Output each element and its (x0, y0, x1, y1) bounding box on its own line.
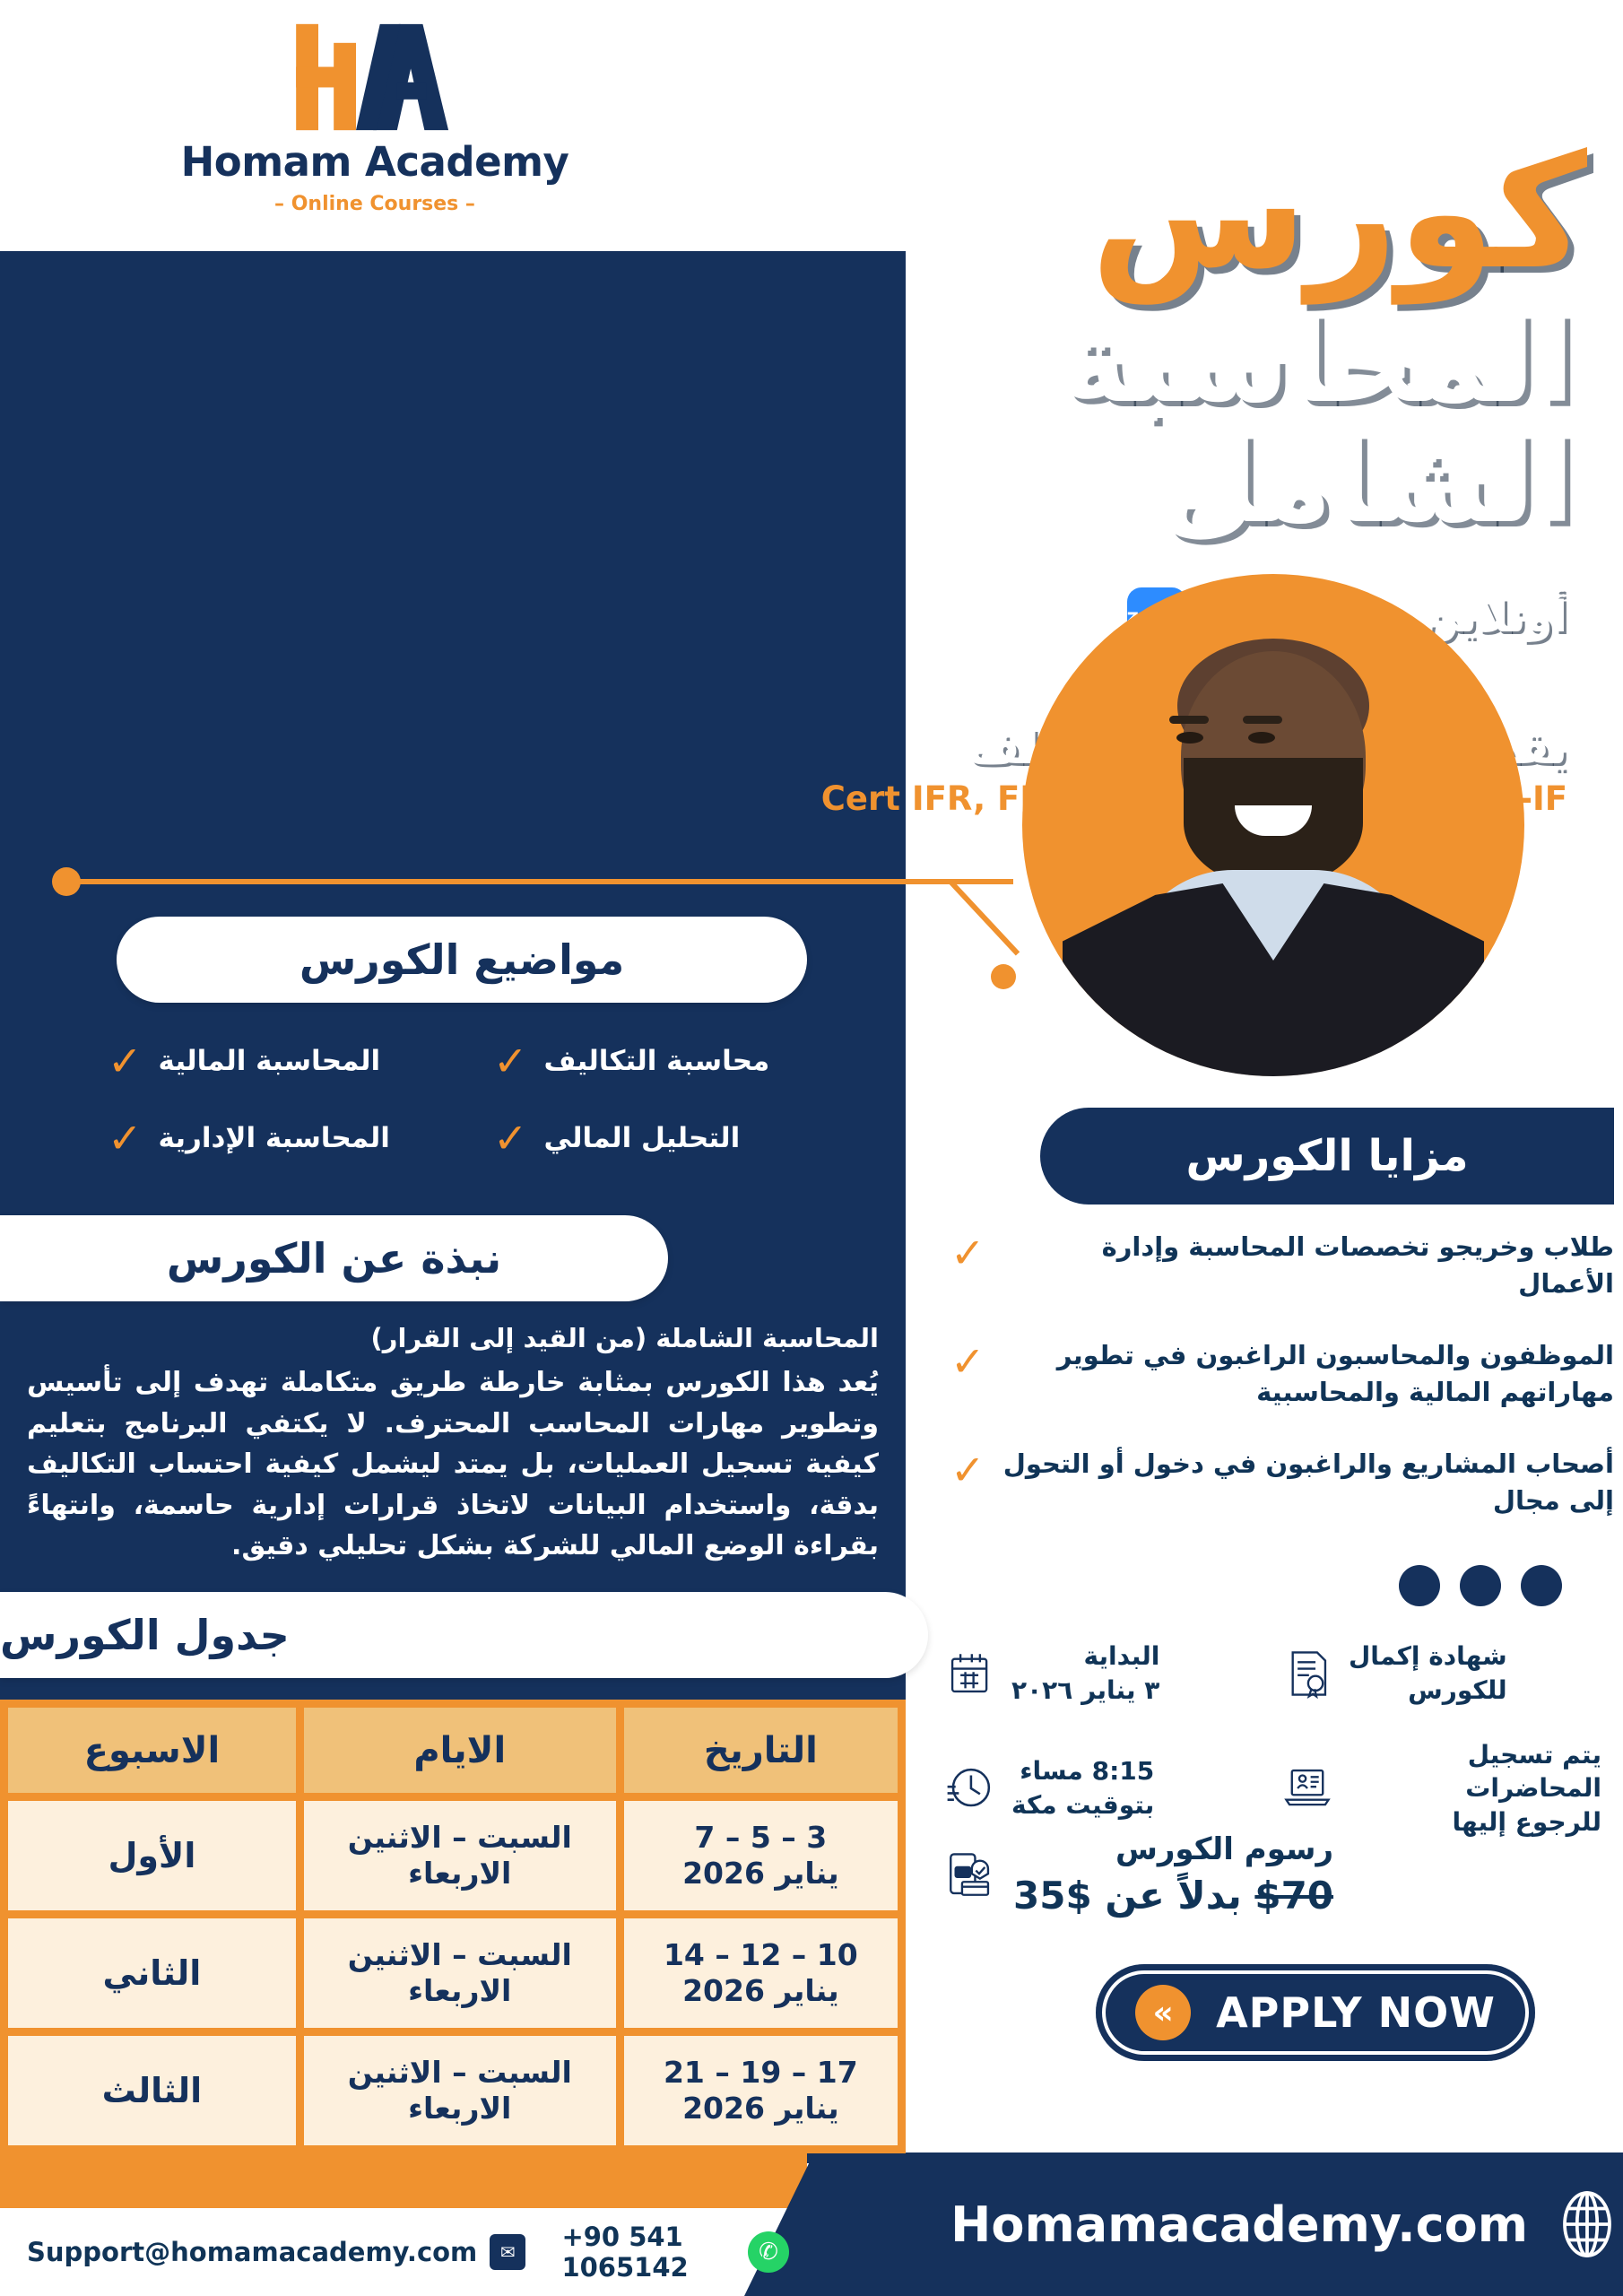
cell-line: الاربعاء (308, 2091, 612, 2126)
about-subtitle: المحاسبة الشاملة (من القيد إلى القرار) (27, 1323, 879, 1353)
recording-line1: يتم تسجيل المحاضرات (1349, 1738, 1601, 1806)
ha-monogram-icon (142, 18, 608, 136)
topic-label: محاسبة التكاليف (544, 1045, 770, 1077)
cell-week: الأول (8, 1801, 296, 1910)
footer-contact-block: ✆ +90 541 1065142 ✉ Support@homamacademy… (27, 2213, 789, 2291)
fees-new-price: $35 (1013, 1874, 1092, 1918)
hero-title-line1: كورس (690, 135, 1587, 291)
column-header-week: الاسبوع (8, 1708, 296, 1793)
check-icon: ✓ (108, 1040, 143, 1082)
footer-website-url: Homamacademy.com (950, 2196, 1528, 2253)
connector-line (67, 879, 1013, 884)
schedule-table-wrap: التاريخ الايام الاسبوع 3 – 5 – 7يناير 20… (0, 1700, 906, 2153)
cell-line: الثاني (12, 1952, 292, 1994)
topic-label: المحاسبة الإدارية (159, 1122, 390, 1154)
info-row-2: يتم تسجيل المحاضرات للرجوع إليها 8:15 مس… (942, 1738, 1623, 1839)
connector-dot-left (52, 867, 81, 896)
portrait-brow-right (1243, 716, 1282, 724)
cell-line: الاربعاء (308, 1973, 612, 2009)
benefit-label: أصحاب المشاريع والراغبون في دخول أو التح… (1000, 1446, 1614, 1518)
certificate-text: شهادة إكمال للكورس (1349, 1639, 1507, 1708)
dot-icon (1521, 1565, 1562, 1606)
time-text: 8:15 مساء بتوقيت مكة (1011, 1754, 1154, 1822)
calendar-icon (942, 1645, 999, 1702)
cell-days: السبت – الاثنينالاربعاء (304, 1918, 616, 2028)
course-fees: رسوم الكورس $70 بدلاً عن $35 (942, 1830, 1623, 1922)
topic-label: التحليل المالي (544, 1122, 741, 1154)
footer-orange-band (0, 2152, 807, 2208)
info-time: 8:15 مساء بتوقيت مكة (942, 1738, 1255, 1839)
apply-now-button[interactable]: APPLY NOW » (1096, 1964, 1535, 2061)
cell-week: الثالث (8, 2036, 296, 2145)
time-line1: 8:15 مساء (1011, 1754, 1154, 1788)
certificate-line1: شهادة إكمال (1349, 1639, 1507, 1674)
fees-label: رسوم الكورس (1013, 1830, 1333, 1871)
benefit-item: طلاب وخريجو تخصصات المحاسبة وإدارة الأعم… (950, 1229, 1614, 1301)
globe-icon (1551, 2188, 1623, 2260)
column-header-days: الايام (304, 1708, 616, 1793)
cell-date: 3 – 5 – 7يناير 2026 (624, 1801, 898, 1910)
start-text: البداية ٣ يناير ٢٠٢٦ (1011, 1639, 1159, 1708)
laptop-lecture-icon (1279, 1760, 1336, 1817)
topics-list: محاسبة التكاليف ✓ المحاسبة المالية ✓ الت… (54, 1040, 879, 1195)
schedule-heading-label: جدول الكورس (0, 1611, 290, 1659)
table-row: 3 – 5 – 7يناير 2026السبت – الاثنينالاربع… (8, 1801, 898, 1910)
cell-line: السبت – الاثنين (308, 1937, 612, 1973)
topic-item: المحاسبة الإدارية ✓ (108, 1118, 493, 1159)
clock-icon (942, 1760, 999, 1817)
check-icon: ✓ (108, 1118, 143, 1159)
chevron-right-icon: » (1135, 1985, 1191, 2040)
recording-text: يتم تسجيل المحاضرات للرجوع إليها (1349, 1738, 1601, 1839)
cell-days: السبت – الاثنينالاربعاء (304, 1801, 616, 1910)
table-row: 17 – 19 – 21يناير 2026السبت – الاثنينالا… (8, 2036, 898, 2145)
topic-item: التحليل المالي ✓ (493, 1118, 879, 1159)
cell-line: السبت – الاثنين (308, 2055, 612, 2091)
payment-icon (942, 1847, 999, 1904)
start-label: البداية (1011, 1639, 1159, 1674)
cell-line: الأول (12, 1835, 292, 1876)
topics-heading: مواضيع الكورس (117, 917, 807, 1003)
dot-icon (1399, 1565, 1440, 1606)
cell-date: 10 – 12 – 14يناير 2026 (624, 1918, 898, 2028)
benefit-item: أصحاب المشاريع والراغبون في دخول أو التح… (950, 1446, 1614, 1518)
fees-price-line: $70 بدلاً عن $35 (1013, 1871, 1333, 1922)
dot-icon (1460, 1565, 1501, 1606)
hero-title-line2: المحاسبة الشامل (690, 302, 1587, 544)
whatsapp-icon[interactable]: ✆ (748, 2231, 789, 2273)
check-icon: ✓ (950, 1229, 985, 1274)
portrait-brow-left (1169, 716, 1209, 724)
brand-tagline: – Online Courses – (142, 193, 608, 215)
footer-website-block[interactable]: Homamacademy.com (825, 2152, 1623, 2296)
about-heading: نبذة عن الكورس (0, 1215, 668, 1301)
cell-days: السبت – الاثنينالاربعاء (304, 2036, 616, 2145)
about-paragraph: يُعد هذا الكورس بمثابة خارطة طريق متكامل… (27, 1362, 879, 1567)
instructor-portrait (1022, 574, 1524, 1076)
cell-line: يناير 2026 (628, 2091, 894, 2126)
hero-title: كورس المحاسبة الشامل (690, 135, 1587, 544)
fees-instead-label: بدلاً عن (1105, 1874, 1241, 1918)
benefits-heading: مزايا الكورس (1040, 1108, 1614, 1205)
cell-line: 3 – 5 – 7 (628, 1820, 894, 1856)
apply-now-label: APPLY NOW (1216, 1988, 1496, 2037)
schedule-heading: جدول الكورس (0, 1592, 928, 1678)
benefit-label: طلاب وخريجو تخصصات المحاسبة وإدارة الأعم… (1000, 1229, 1614, 1301)
cell-line: يناير 2026 (628, 1856, 894, 1892)
topics-row-1: محاسبة التكاليف ✓ المحاسبة المالية ✓ (54, 1040, 879, 1082)
schedule-table: التاريخ الايام الاسبوع 3 – 5 – 7يناير 20… (0, 1700, 906, 2153)
info-recording: يتم تسجيل المحاضرات للرجوع إليها (1279, 1738, 1601, 1839)
fees-text: رسوم الكورس $70 بدلاً عن $35 (1013, 1830, 1333, 1922)
footer-email[interactable]: Support@homamacademy.com (27, 2237, 477, 2267)
cell-line: 17 – 19 – 21 (628, 2055, 894, 2091)
topics-row-2: التحليل المالي ✓ المحاسبة الإدارية ✓ (54, 1118, 879, 1159)
brand-name: Homam Academy (142, 138, 608, 186)
decorative-dots (1399, 1565, 1562, 1606)
start-value: ٣ يناير ٢٠٢٦ (1011, 1674, 1159, 1708)
topic-item: محاسبة التكاليف ✓ (493, 1040, 879, 1082)
info-certificate: شهادة إكمال للكورس (1279, 1639, 1601, 1708)
benefit-item: الموظفون والمحاسبون الراغبون في تطوير مه… (950, 1337, 1614, 1410)
cell-date: 17 – 19 – 21يناير 2026 (624, 2036, 898, 2145)
about-block: المحاسبة الشاملة (من القيد إلى القرار) ي… (27, 1323, 879, 1567)
info-start-date: البداية ٣ يناير ٢٠٢٦ (942, 1639, 1255, 1708)
cell-line: الثالث (12, 2070, 292, 2111)
brand-logo: Homam Academy – Online Courses – (142, 18, 608, 215)
column-header-date: التاريخ (624, 1708, 898, 1793)
footer-phone[interactable]: +90 541 1065142 (561, 2222, 735, 2283)
fees-old-price: $70 (1254, 1874, 1333, 1918)
course-poster: Homam Academy – Online Courses – كورس ال… (0, 0, 1623, 2296)
certificate-line2: للكورس (1349, 1674, 1507, 1708)
benefit-label: الموظفون والمحاسبون الراغبون في تطوير مه… (1000, 1337, 1614, 1410)
topic-item: المحاسبة المالية ✓ (108, 1040, 493, 1082)
email-icon[interactable]: ✉ (490, 2234, 525, 2270)
certificate-icon (1279, 1645, 1336, 1702)
table-row: 10 – 12 – 14يناير 2026السبت – الاثنينالا… (8, 1918, 898, 2028)
cell-line: 10 – 12 – 14 (628, 1937, 894, 1973)
topic-label: المحاسبة المالية (159, 1045, 381, 1077)
benefits-list: طلاب وخريجو تخصصات المحاسبة وإدارة الأعم… (950, 1229, 1614, 1555)
cell-line: السبت – الاثنين (308, 1820, 612, 1856)
check-icon: ✓ (493, 1040, 528, 1082)
cell-line: يناير 2026 (628, 1973, 894, 2009)
info-row-1: شهادة إكمال للكورس البداية ٣ يناير ٢٠٢٦ (942, 1639, 1623, 1708)
check-icon: ✓ (493, 1118, 528, 1159)
check-icon: ✓ (950, 1337, 985, 1382)
connector-dot-right (991, 964, 1016, 989)
check-icon: ✓ (950, 1446, 985, 1491)
portrait-eye-right (1248, 732, 1275, 744)
cell-line: الاربعاء (308, 1856, 612, 1892)
portrait-eye-left (1176, 732, 1203, 744)
cell-week: الثاني (8, 1918, 296, 2028)
table-header-row: التاريخ الايام الاسبوع (8, 1708, 898, 1793)
time-line2: بتوقيت مكة (1011, 1788, 1154, 1822)
